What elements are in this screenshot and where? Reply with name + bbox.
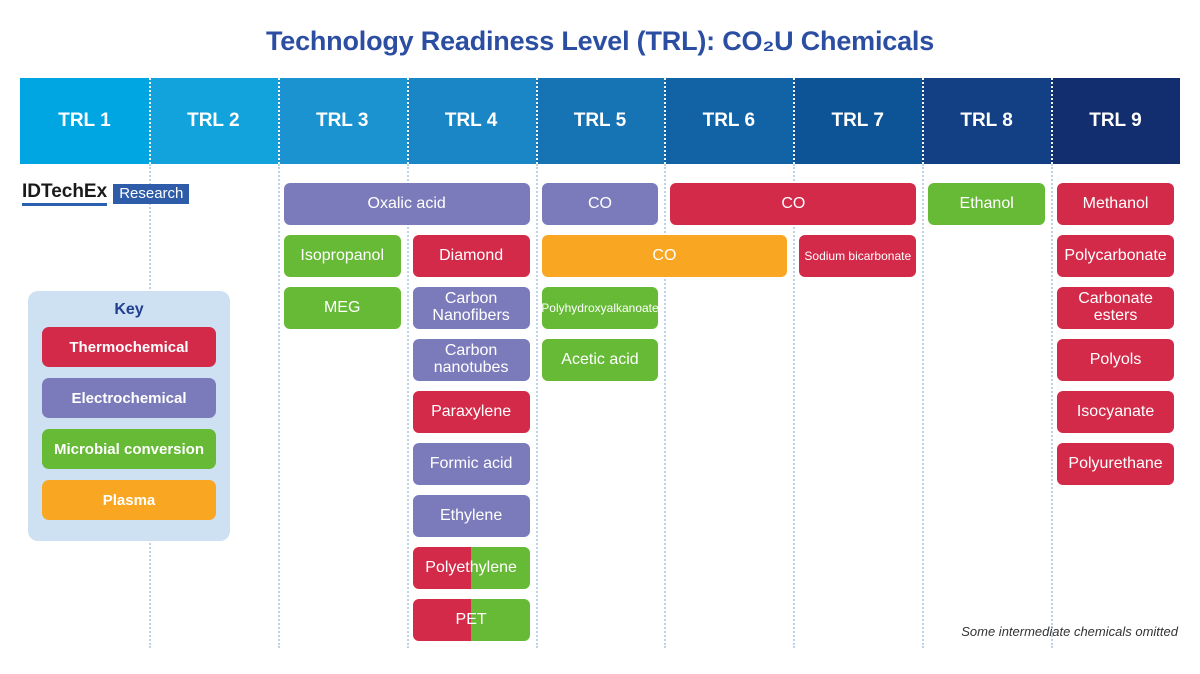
chemical-bar-label: Acetic acid: [561, 352, 638, 369]
trl-column-label: TRL 9: [1089, 110, 1141, 132]
trl-column-label: TRL 7: [831, 110, 883, 132]
key-item-microbial-conversion[interactable]: Microbial conversion: [42, 429, 216, 469]
chemical-bar[interactable]: Acetic acid: [542, 339, 659, 381]
trl-column-label: TRL 4: [445, 110, 497, 132]
chemical-bar[interactable]: Carbonate esters: [1057, 287, 1174, 329]
chemical-bar-label: CO: [588, 196, 612, 213]
chemical-bar-label: Oxalic acid: [368, 196, 446, 213]
chemical-bar[interactable]: Polycarbonate: [1057, 235, 1174, 277]
chemical-bar[interactable]: Sodium bicarbonate: [799, 235, 916, 277]
chemical-bar[interactable]: Polyols: [1057, 339, 1174, 381]
trl-column-header-1[interactable]: TRL 1: [20, 78, 149, 164]
trl-column-header-5[interactable]: TRL 5: [536, 78, 665, 164]
key-item-label: Electrochemical: [71, 390, 186, 407]
idtechex-logo: IDTechEx Research: [22, 182, 189, 206]
chemical-bar-label: Polyols: [1090, 352, 1142, 369]
key-item-thermochemical[interactable]: Thermochemical: [42, 327, 216, 367]
chemical-bar-label: Isopropanol: [300, 248, 384, 265]
key-item-electrochemical[interactable]: Electrochemical: [42, 378, 216, 418]
trl-column-label: TRL 5: [574, 110, 626, 132]
chemical-bar-label: MEG: [324, 300, 360, 317]
trl-column-label: TRL 2: [187, 110, 239, 132]
idtechex-wordmark: IDTechEx: [22, 182, 107, 206]
trl-column-header-8[interactable]: TRL 8: [922, 78, 1051, 164]
key-title: Key: [42, 301, 216, 319]
key-item-label: Microbial conversion: [54, 441, 204, 458]
chemical-bar[interactable]: Polyethylene: [413, 547, 530, 589]
chemical-bar[interactable]: Methanol: [1057, 183, 1174, 225]
chemical-bar-label: Methanol: [1083, 196, 1149, 213]
trl-column-header-9[interactable]: TRL 9: [1051, 78, 1180, 164]
trl-column-header-2[interactable]: TRL 2: [149, 78, 278, 164]
trl-column-header-3[interactable]: TRL 3: [278, 78, 407, 164]
chemical-bar-label: Carbon Nanofibers: [417, 291, 526, 325]
chemical-bar[interactable]: Formic acid: [413, 443, 530, 485]
chemical-bar[interactable]: CO: [542, 183, 659, 225]
trl-column-label: TRL 6: [703, 110, 755, 132]
key-legend: Key ThermochemicalElectrochemicalMicrobi…: [28, 291, 230, 541]
chemical-bar[interactable]: Ethanol: [928, 183, 1045, 225]
trl-column-label: TRL 8: [960, 110, 1012, 132]
chemical-bar[interactable]: Isopropanol: [284, 235, 401, 277]
chemical-bar-label: Polycarbonate: [1064, 248, 1166, 265]
idtechex-research-badge: Research: [113, 184, 189, 205]
chemical-bar[interactable]: CO: [670, 183, 916, 225]
chemical-bar[interactable]: PET: [413, 599, 530, 641]
chemical-bar[interactable]: Paraxylene: [413, 391, 530, 433]
trl-header-row: TRL 1TRL 2TRL 3TRL 4TRL 5TRL 6TRL 7TRL 8…: [20, 78, 1180, 164]
chemical-bar-label: Polyethylene: [425, 560, 517, 577]
page-title: Technology Readiness Level (TRL): CO₂U C…: [0, 26, 1200, 57]
chemical-bar[interactable]: CO: [542, 235, 788, 277]
chemical-bar[interactable]: Carbon nanotubes: [413, 339, 530, 381]
chemical-bar[interactable]: MEG: [284, 287, 401, 329]
chemical-bar-label: Sodium bicarbonate: [804, 250, 911, 263]
trl-column-header-4[interactable]: TRL 4: [407, 78, 536, 164]
trl-column-label: TRL 1: [58, 110, 110, 132]
chemical-bar[interactable]: Polyurethane: [1057, 443, 1174, 485]
key-item-plasma[interactable]: Plasma: [42, 480, 216, 520]
chemical-bar-label: Formic acid: [430, 456, 513, 473]
key-item-label: Thermochemical: [69, 339, 188, 356]
chemical-bar-label: Ethanol: [960, 196, 1014, 213]
trl-column-header-7[interactable]: TRL 7: [793, 78, 922, 164]
key-item-label: Plasma: [103, 492, 156, 509]
footnote: Some intermediate chemicals omitted: [961, 624, 1178, 639]
chemical-bar[interactable]: Isocyanate: [1057, 391, 1174, 433]
chemical-bar[interactable]: Oxalic acid: [284, 183, 530, 225]
key-items: ThermochemicalElectrochemicalMicrobial c…: [42, 327, 216, 520]
chemical-bar[interactable]: Diamond: [413, 235, 530, 277]
chemical-bar[interactable]: Carbon Nanofibers: [413, 287, 530, 329]
chemical-bar[interactable]: Polyhydroxyalkanoate: [542, 287, 659, 329]
chemical-bar-label: Isocyanate: [1077, 404, 1154, 421]
chemical-bar-label: CO: [781, 196, 805, 213]
chemical-bar-label: Paraxylene: [431, 404, 511, 421]
chemical-bar[interactable]: Ethylene: [413, 495, 530, 537]
chemical-bar-label: Diamond: [439, 248, 503, 265]
chemical-bar-label: Ethylene: [440, 508, 502, 525]
chemical-bar-label: Polyurethane: [1068, 456, 1162, 473]
chemical-bar-label: Polyhydroxyalkanoate: [542, 302, 659, 315]
trl-column-header-6[interactable]: TRL 6: [664, 78, 793, 164]
trl-column-label: TRL 3: [316, 110, 368, 132]
chemical-bar-label: CO: [652, 248, 676, 265]
chemical-bar-label: PET: [456, 612, 487, 629]
chemical-bar-label: Carbonate esters: [1061, 291, 1170, 325]
chemical-bar-label: Carbon nanotubes: [417, 343, 526, 377]
